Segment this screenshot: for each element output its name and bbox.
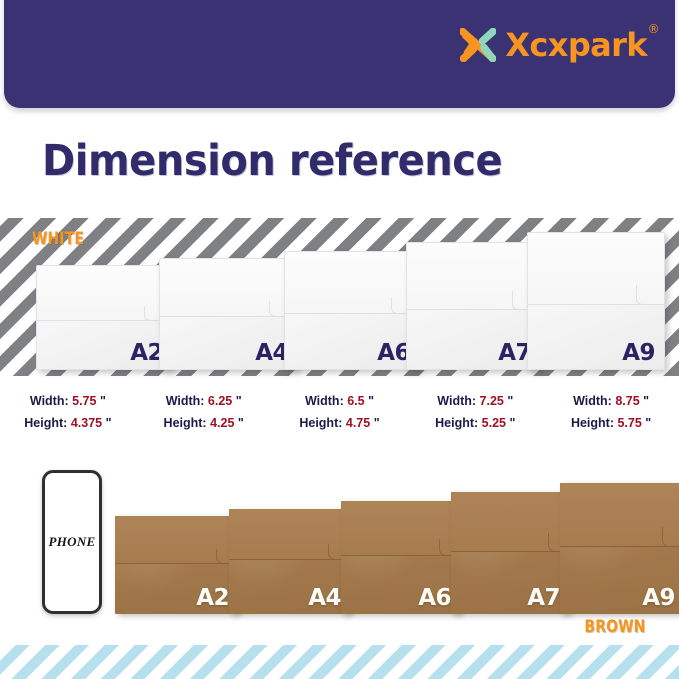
brown-envelope-row: PHONE A2A4A6A7A9 (0, 455, 679, 620)
header-banner: Xcxpark® (4, 0, 675, 108)
white-envelope-a4: A4 (159, 258, 298, 370)
width-value: Width: 6.25 " (136, 391, 272, 413)
page-title: Dimension reference (42, 140, 502, 183)
envelope-size-label: A9 (642, 587, 675, 610)
envelope-flap (407, 243, 540, 310)
width-value: Width: 6.5 " (272, 391, 408, 413)
brown-envelope-a7: A7 (451, 492, 569, 614)
width-value: Width: 7.25 " (407, 391, 543, 413)
envelope-flap (451, 492, 569, 552)
envelope-size-label: A6 (418, 587, 451, 610)
registered-trademark-icon: ® (648, 23, 659, 35)
white-envelope-row: A2A4A6A7A9 (0, 218, 679, 378)
white-envelope-a2: A2 (36, 265, 173, 370)
x-mark-logo-icon (460, 28, 496, 62)
envelope-size-label: A4 (308, 587, 341, 610)
envelope-flap (37, 266, 172, 321)
brown-envelope-a9: A9 (560, 483, 679, 614)
height-value: Height: 4.375 " (0, 413, 136, 435)
brand-name: Xcxpark (505, 26, 647, 64)
height-value: Height: 5.75 " (543, 413, 679, 435)
envelope-flap (560, 483, 679, 547)
white-envelope-a6: A6 (284, 251, 420, 370)
envelope-size-label: A7 (527, 587, 560, 610)
height-value: Height: 5.25 " (407, 413, 543, 435)
brown-envelope-a4: A4 (229, 509, 350, 614)
brown-section-label: BROWN (584, 617, 645, 637)
envelope-flap (229, 509, 350, 560)
dimension-column-a7: Width: 7.25 "Height: 5.25 " (407, 391, 543, 434)
dimension-column-a6: Width: 6.5 "Height: 4.75 " (272, 391, 408, 434)
height-value: Height: 4.75 " (272, 413, 408, 435)
envelope-flap (528, 233, 664, 305)
height-value: Height: 4.25 " (136, 413, 272, 435)
envelope-flap (160, 259, 297, 317)
dimension-column-a4: Width: 6.25 "Height: 4.25 " (136, 391, 272, 434)
white-envelope-a9: A9 (527, 232, 665, 370)
dimension-column-a9: Width: 8.75 "Height: 5.75 " (543, 391, 679, 434)
brown-envelope-a2: A2 (115, 516, 238, 614)
dimension-table: Width: 5.75 "Height: 4.375 "Width: 6.25 … (0, 391, 679, 434)
envelope-size-label: A9 (622, 342, 655, 365)
brown-envelope-a6: A6 (341, 501, 460, 614)
envelope-flap (115, 516, 238, 564)
white-envelope-a7: A7 (406, 242, 541, 370)
dimension-column-a2: Width: 5.75 "Height: 4.375 " (0, 391, 136, 434)
infographic-page: Xcxpark® Dimension reference WHITE A2A4A… (0, 0, 679, 679)
brand-logo: Xcxpark® (460, 28, 647, 62)
phone-size-reference: PHONE (42, 470, 102, 614)
envelope-flap (341, 501, 460, 556)
phone-label: PHONE (49, 534, 96, 550)
brand-name-text: Xcxpark® (505, 29, 647, 61)
footer-stripe-background (0, 645, 679, 679)
width-value: Width: 8.75 " (543, 391, 679, 413)
envelope-flap (285, 252, 419, 314)
width-value: Width: 5.75 " (0, 391, 136, 413)
envelope-size-label: A2 (196, 587, 229, 610)
